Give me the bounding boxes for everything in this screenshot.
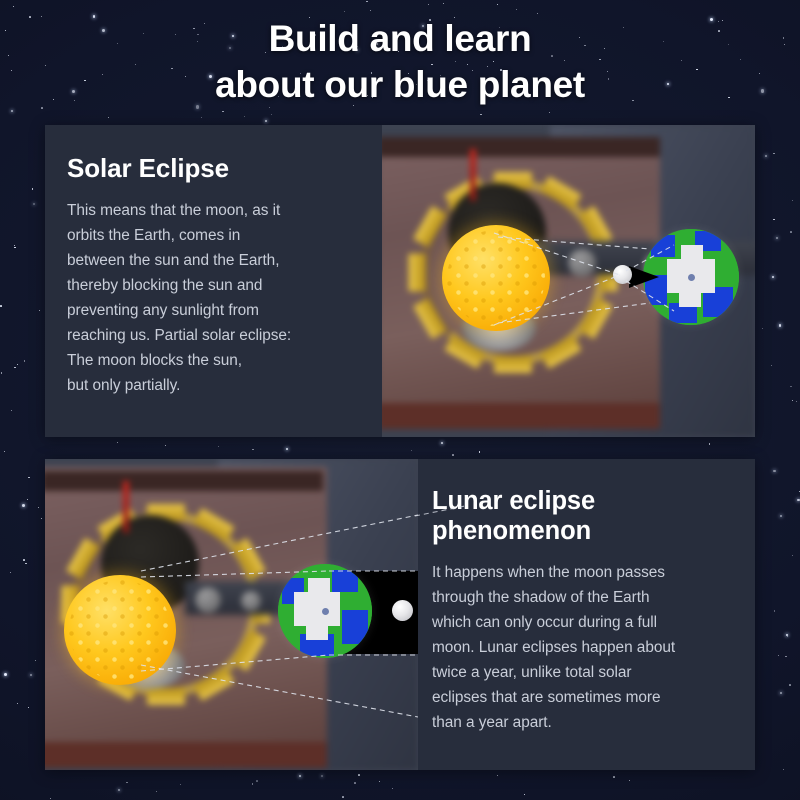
lego-sun-model [64,575,176,685]
earth-cloud-band [294,592,340,626]
star [108,117,109,118]
star [33,203,35,205]
star [117,442,118,443]
star [787,636,788,637]
star [771,365,772,366]
headline-line-2: about our blue planet [0,62,800,108]
backdrop-wall-bottom [45,742,327,768]
star [269,107,271,109]
star [479,451,481,453]
star [783,769,784,770]
star [516,9,517,10]
orrery-pointer [123,481,129,533]
panel-solar-heading: Solar Eclipse [67,153,362,183]
star [11,410,12,411]
star [613,776,615,778]
star [497,4,498,5]
star [443,3,445,5]
panel-solar-text-column: Solar Eclipse This means that the moon, … [45,125,382,437]
solar-umbra-cone [629,266,659,288]
star [180,784,181,785]
solar-eclipse-photo [382,125,755,437]
star [786,634,788,636]
star [11,110,13,112]
lego-earth-model [278,564,372,658]
page-title: Build and learn about our blue planet [0,16,800,107]
star [629,780,630,781]
orrery-gear-a [568,249,596,277]
star [441,442,443,444]
star [201,117,202,118]
star [28,707,29,708]
headline-line-1: Build and learn [269,18,532,59]
star [524,794,525,795]
star [22,504,25,507]
star [370,10,371,11]
star [709,443,711,445]
star [358,774,360,776]
star [344,11,345,12]
star [428,4,429,5]
star [776,237,778,239]
panel-lunar-body: It happens when the moon passes through … [432,561,737,736]
star [35,660,36,661]
lego-sun-model [442,225,550,331]
earth-cloud-top [681,245,703,263]
earth-ocean-2 [332,570,358,592]
panel-lunar-heading: Lunar eclipse phenomenon [432,487,737,546]
earth-axis-pin [322,608,329,615]
star [10,572,11,573]
star [14,367,16,369]
star [14,247,16,249]
star [118,789,120,791]
star [39,310,40,311]
star [27,499,28,500]
star [4,673,7,676]
orrery-tile [147,688,185,705]
star [38,507,39,508]
star [392,788,393,789]
star [778,655,780,657]
lunar-eclipse-photo [45,459,418,770]
star [4,451,5,452]
star [796,401,797,402]
star [785,656,787,658]
star [780,692,782,694]
orrery-gear-a [195,587,221,613]
star [30,674,32,676]
star [244,116,245,117]
star [14,245,15,246]
backdrop-wall-top [45,471,323,491]
earth-cloud-top [308,578,330,596]
earth-cloud-bottom [679,289,701,307]
star [790,231,792,233]
star [773,470,775,472]
star [286,448,288,450]
panel-lunar-eclipse: Lunar eclipse phenomenon It happens when… [45,459,755,770]
earth-axis-pin [688,274,695,281]
star [497,775,498,776]
star [321,775,323,777]
star [17,703,18,704]
star [25,563,27,565]
star [765,155,767,157]
star [379,781,380,782]
star [218,446,220,448]
star [28,477,30,479]
star [156,791,157,792]
star [165,445,166,446]
earth-ocean-3 [342,610,368,644]
panel-solar-body: This means that the moon, as it orbits t… [67,199,362,399]
star [774,610,776,612]
star [773,219,775,221]
orrery-pointer [470,149,476,201]
star [252,783,254,785]
earth-ocean-1 [651,235,675,257]
star [411,450,412,451]
star [265,120,267,122]
star [780,515,782,517]
star [1,372,3,374]
star [299,775,301,777]
star [50,798,52,800]
star [773,153,775,155]
star [452,454,454,456]
lego-moon-model [392,600,413,621]
backdrop-wall-top [382,137,660,157]
star [792,400,794,402]
star [17,364,18,365]
panel-solar-eclipse: Solar Eclipse This means that the moon, … [45,125,755,437]
star [126,782,128,784]
panel-lunar-text-column: Lunar eclipse phenomenon It happens when… [418,459,755,770]
lego-moon-model [613,265,632,284]
orrery-tile [494,356,532,373]
star [792,555,793,556]
poster-page: Build and learn about our blue planet So… [0,0,800,800]
star [549,112,551,114]
star [252,449,254,451]
star [32,188,34,190]
star [24,360,26,362]
star [772,276,774,278]
star [222,111,224,113]
star [41,107,43,109]
star [0,305,2,307]
star [537,13,538,14]
star [790,386,792,388]
orrery-tile [409,254,426,292]
orrery-gear-b [241,591,261,611]
star [762,328,763,329]
star [271,114,272,115]
star [789,684,791,686]
backdrop-wall-bottom [382,403,660,429]
star [792,200,793,201]
star [366,1,368,3]
earth-cloud-bottom [306,622,328,640]
star [256,780,258,782]
star [23,559,25,561]
star [797,499,799,501]
star [13,6,15,8]
star [480,114,482,116]
star [779,324,781,326]
star [354,782,356,784]
star [41,518,42,519]
star [342,796,344,798]
